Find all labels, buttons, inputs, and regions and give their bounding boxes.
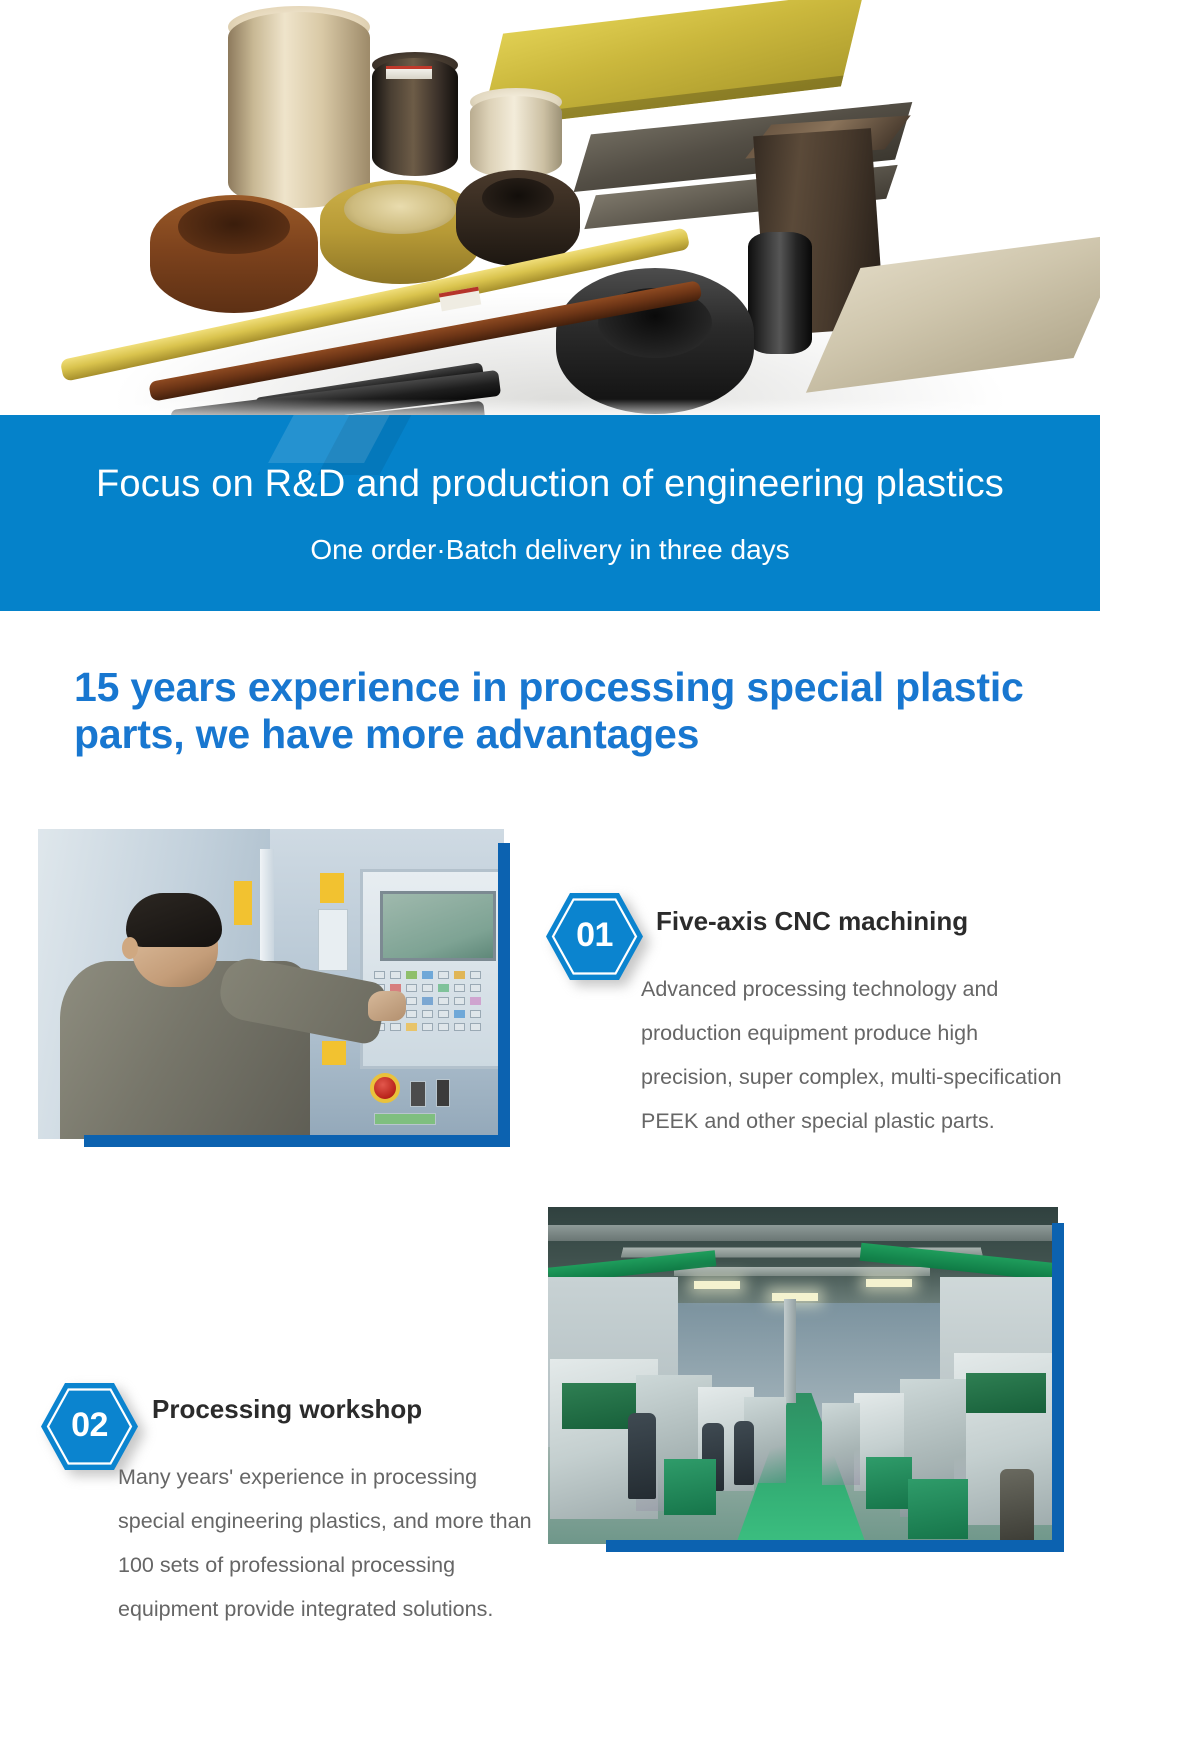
cnc-screen [380, 891, 496, 961]
banner-secondary-tagline: One order·Batch delivery in three days [0, 534, 1100, 566]
operator-ear [122, 937, 138, 959]
hero-stage [0, 0, 1100, 425]
banner-primary-tagline: Focus on R&D and production of engineeri… [0, 463, 1100, 506]
cnc-warning-label-2 [320, 873, 344, 903]
feature-02-image [548, 1207, 1064, 1552]
feature-01-image [38, 829, 510, 1147]
ceiling-duct-3 [674, 1267, 930, 1276]
panel-switch-1 [410, 1081, 426, 1107]
badge-number-01: 01 [543, 890, 646, 983]
cnc-machine-right-4 [822, 1403, 860, 1485]
product-cream-cylinder [470, 96, 562, 178]
material-cart-1 [664, 1459, 716, 1515]
product-gold-ring-hole [344, 184, 456, 234]
ceiling-lamp-1 [694, 1281, 740, 1289]
operator-hand [368, 991, 406, 1021]
workshop-pillar [784, 1299, 796, 1403]
product-black-cylinder [748, 232, 812, 354]
product-brown-ring-hole [178, 200, 290, 254]
material-cart-2 [866, 1457, 912, 1509]
feature-02-accent-bar-right [1052, 1223, 1064, 1548]
worker-1 [628, 1413, 656, 1499]
workshop-photo [548, 1207, 1058, 1544]
machine-green-panel-2 [966, 1373, 1046, 1413]
hero-product-image [0, 0, 1100, 425]
product-dark-ring-hole [482, 178, 554, 218]
worker-3 [734, 1421, 754, 1485]
panel-switch-2 [436, 1079, 450, 1107]
cnc-instruction-label [318, 909, 348, 971]
material-cart-3 [908, 1479, 968, 1539]
product-label-sticker [386, 66, 432, 79]
tagline-banner: Focus on R&D and production of engineeri… [0, 415, 1100, 611]
feature-01-title: Five-axis CNC machining [656, 906, 968, 937]
worker-4 [1000, 1469, 1034, 1543]
emergency-stop-button [370, 1073, 400, 1103]
cnc-warning-label-1 [234, 881, 252, 925]
feature-01-badge: 01 [543, 890, 646, 983]
operator-hair [126, 893, 222, 947]
ceiling-lamp-3 [866, 1279, 912, 1287]
feature-01-body: Advanced processing technology and produ… [641, 967, 1073, 1143]
hexagon-badge-01: 01 [543, 890, 646, 983]
feature-02-body: Many years' experience in processing spe… [118, 1455, 538, 1631]
cnc-operator-photo [38, 829, 504, 1139]
feature-02-accent-bar-bottom [606, 1540, 1064, 1552]
product-large-cylinder [228, 12, 370, 208]
ceiling-duct-main [548, 1225, 1058, 1241]
feature-01-accent-bar-right [498, 843, 510, 1143]
machine-green-panel-1 [562, 1383, 636, 1429]
feature-01-accent-bar-bottom [84, 1135, 510, 1147]
panel-indicator-strip [374, 1113, 436, 1125]
section-headline: 15 years experience in processing specia… [74, 664, 1074, 758]
cnc-caution-label [322, 1041, 346, 1065]
feature-02-title: Processing workshop [152, 1394, 422, 1425]
product-detail-page: Focus on R&D and production of engineeri… [0, 0, 1200, 1752]
